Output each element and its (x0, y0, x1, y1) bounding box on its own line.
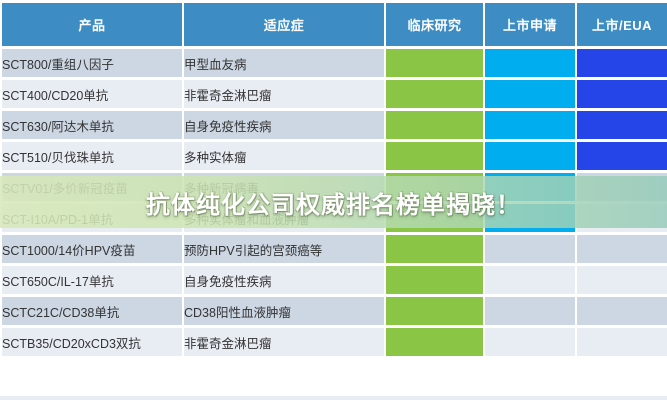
cell-market-application (485, 235, 575, 263)
cell-product: SCTB35/CD20xCD3双抗 (2, 328, 182, 356)
cell-market-application (485, 80, 575, 108)
cell-market-application (485, 173, 575, 201)
cell-clinical-research (386, 80, 483, 108)
cell-product: SCT-I10A/PD-1单抗 (2, 204, 182, 232)
cell-market-application (485, 49, 575, 77)
cell-indication: 非霍奇金淋巴瘤 (184, 80, 384, 108)
cell-product: SCT1000/14价HPV疫苗 (2, 235, 182, 263)
cell-indication: 多种实体瘤 (184, 142, 384, 170)
cell-product: SCTC21C/CD38单抗 (2, 297, 182, 325)
cell-clinical-research (386, 297, 483, 325)
cell-clinical-research (386, 204, 483, 232)
cell-market-application (485, 266, 575, 294)
cell-indication: 多种新冠病毒 (184, 173, 384, 201)
cell-market-application (485, 328, 575, 356)
cell-marketed-eua (577, 204, 667, 232)
column-header-clinical-research: 临床研究 (386, 3, 483, 46)
cell-market-application (485, 297, 575, 325)
cell-clinical-research (386, 328, 483, 356)
cell-clinical-research (386, 266, 483, 294)
cell-clinical-research (386, 49, 483, 77)
table-row: SCT630/阿达木单抗自身免疫性疾病 (2, 111, 667, 139)
table-row: SCT-I10A/PD-1单抗多种实体瘤和血液肿瘤 (2, 204, 667, 232)
cell-marketed-eua (577, 173, 667, 201)
cell-clinical-research (386, 235, 483, 263)
cell-product: SCT510/贝伐珠单抗 (2, 142, 182, 170)
cell-market-application (485, 111, 575, 139)
column-header-marketed-eua: 上市/EUA (577, 3, 667, 46)
column-header-indication: 适应症 (184, 3, 384, 46)
cell-product: SCT800/重组八因子 (2, 49, 182, 77)
cell-market-application (485, 142, 575, 170)
cell-indication: CD38阳性血液肿瘤 (184, 297, 384, 325)
cell-marketed-eua (577, 49, 667, 77)
cell-product: SCT650C/IL-17单抗 (2, 266, 182, 294)
pipeline-table-container: 产品 适应症 临床研究 上市申请 上市/EUA SCT800/重组八因子甲型血友… (0, 0, 667, 400)
cell-marketed-eua (577, 235, 667, 263)
table-row: SCT510/贝伐珠单抗多种实体瘤 (2, 142, 667, 170)
column-header-market-application: 上市申请 (485, 3, 575, 46)
cell-market-application (485, 204, 575, 232)
cell-marketed-eua (577, 111, 667, 139)
table-bottom-edge (0, 396, 667, 400)
table-row: SCT400/CD20单抗非霍奇金淋巴瘤 (2, 80, 667, 108)
table-row: SCT800/重组八因子甲型血友病 (2, 49, 667, 77)
cell-indication: 预防HPV引起的宫颈癌等 (184, 235, 384, 263)
table-row: SCT1000/14价HPV疫苗预防HPV引起的宫颈癌等 (2, 235, 667, 263)
table-body: SCT800/重组八因子甲型血友病SCT400/CD20单抗非霍奇金淋巴瘤SCT… (2, 49, 667, 356)
table-row: SCT650C/IL-17单抗自身免疫性疾病 (2, 266, 667, 294)
header-row: 产品 适应症 临床研究 上市申请 上市/EUA (2, 3, 667, 46)
table-header: 产品 适应症 临床研究 上市申请 上市/EUA (2, 3, 667, 46)
column-header-product: 产品 (2, 3, 182, 46)
table-row: SCTV01/多价新冠疫苗多种新冠病毒 (2, 173, 667, 201)
cell-indication: 非霍奇金淋巴瘤 (184, 328, 384, 356)
cell-indication: 自身免疫性疾病 (184, 111, 384, 139)
cell-marketed-eua (577, 297, 667, 325)
cell-indication: 自身免疫性疾病 (184, 266, 384, 294)
cell-product: SCTV01/多价新冠疫苗 (2, 173, 182, 201)
table-row: SCTC21C/CD38单抗CD38阳性血液肿瘤 (2, 297, 667, 325)
cell-clinical-research (386, 173, 483, 201)
product-pipeline-table: 产品 适应症 临床研究 上市申请 上市/EUA SCT800/重组八因子甲型血友… (0, 0, 667, 359)
cell-indication: 多种实体瘤和血液肿瘤 (184, 204, 384, 232)
cell-product: SCT400/CD20单抗 (2, 80, 182, 108)
cell-marketed-eua (577, 142, 667, 170)
cell-product: SCT630/阿达木单抗 (2, 111, 182, 139)
cell-marketed-eua (577, 80, 667, 108)
cell-marketed-eua (577, 266, 667, 294)
cell-indication: 甲型血友病 (184, 49, 384, 77)
cell-clinical-research (386, 111, 483, 139)
cell-clinical-research (386, 142, 483, 170)
table-row: SCTB35/CD20xCD3双抗非霍奇金淋巴瘤 (2, 328, 667, 356)
cell-marketed-eua (577, 328, 667, 356)
